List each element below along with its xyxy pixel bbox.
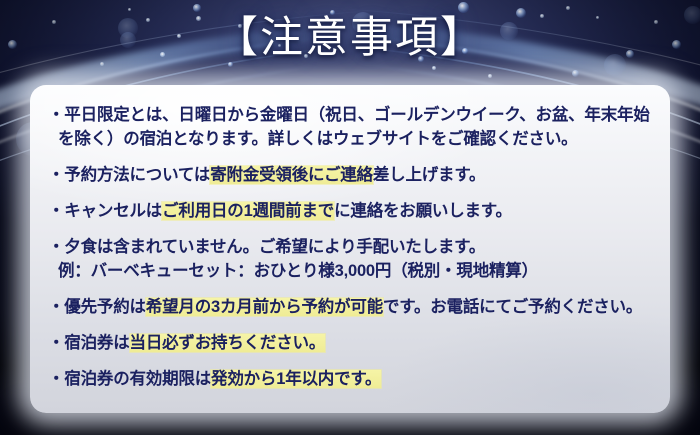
note-text: ・優先予約は [48,298,146,316]
note-item-cancellation: ・キャンセルはご利用日の1週間前までに連絡をお願いします。 [48,199,654,223]
note-line: ・キャンセルはご利用日の1週間前までに連絡をお願いします。 [48,199,654,223]
note-text: ・キャンセルは [48,202,162,220]
highlighted-text: 寄附金受領後にご連絡 [210,166,373,184]
note-line: ・夕食は含まれていません。ご希望により手配いたします。 [48,235,654,259]
note-text: ・宿泊券の有効期限は [48,370,211,388]
note-text: です。お電話にてご予約ください。 [383,298,642,316]
note-text: ・夕食は含まれていません。ご希望により手配いたします。 [48,238,485,256]
note-text: ・平日限定とは、日曜日から金曜日（祝日、ゴールデンウイーク、お盆、年末年始 [48,106,650,124]
note-item-voucher-validity: ・宿泊券の有効期限は発効から1年以内です。 [48,367,654,391]
note-text: を除く）の宿泊となります。詳しくはウェブサイトをご確認ください。 [58,130,577,148]
note-item-dinner: ・夕食は含まれていません。ご希望により手配いたします。例：バーベキューセット：お… [48,235,654,283]
notes-list: ・平日限定とは、日曜日から金曜日（祝日、ゴールデンウイーク、お盆、年末年始を除く… [30,85,670,403]
note-line: ・宿泊券は当日必ずお持ちください。 [48,331,654,355]
note-line: ・平日限定とは、日曜日から金曜日（祝日、ゴールデンウイーク、お盆、年末年始 [48,103,654,127]
highlighted-text: 発効から1年以内です。 [211,370,381,388]
note-line: ・予約方法については寄附金受領後にご連絡差し上げます。 [48,163,654,187]
note-line: ・宿泊券の有効期限は発効から1年以内です。 [48,367,654,391]
note-text: ・予約方法については [48,166,210,184]
note-line: ・優先予約は希望月の3カ月前から予約が可能です。お電話にてご予約ください。 [48,295,654,319]
note-text: ・宿泊券は [48,334,130,352]
note-item-bring-voucher: ・宿泊券は当日必ずお持ちください。 [48,331,654,355]
notice-banner: 【注意事項】 ・平日限定とは、日曜日から金曜日（祝日、ゴールデンウイーク、お盆、… [0,0,700,435]
note-line: 例：バーベキューセット：おひとり様3,000円（税別・現地精算） [48,259,654,283]
note-text: 例：バーベキューセット：おひとり様3,000円（税別・現地精算） [58,262,538,280]
note-item-priority-booking: ・優先予約は希望月の3カ月前から予約が可能です。お電話にてご予約ください。 [48,295,654,319]
page-title: 【注意事項】 [0,9,700,69]
note-item-weekday-only: ・平日限定とは、日曜日から金曜日（祝日、ゴールデンウイーク、お盆、年末年始を除く… [48,103,654,151]
note-text: に連絡をお願いします。 [334,202,512,220]
highlighted-text: 当日必ずお持ちください。 [130,334,326,352]
note-text: 差し上げます。 [373,166,485,184]
highlighted-text: 希望月の3カ月前から予約が可能 [146,298,383,316]
highlighted-text: ご利用日の1週間前まで [162,202,334,220]
notes-panel: ・平日限定とは、日曜日から金曜日（祝日、ゴールデンウイーク、お盆、年末年始を除く… [30,85,670,413]
note-line: を除く）の宿泊となります。詳しくはウェブサイトをご確認ください。 [48,127,654,151]
note-item-reservation-method: ・予約方法については寄附金受領後にご連絡差し上げます。 [48,163,654,187]
